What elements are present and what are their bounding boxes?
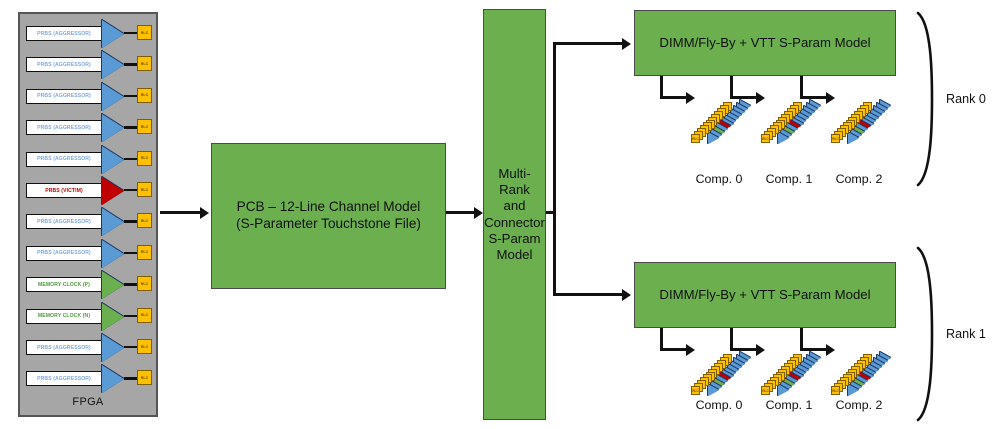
package-rlc-icon: RLC bbox=[831, 386, 840, 395]
stimulus-source-label: PRBS (AGGRESSOR) bbox=[26, 120, 102, 135]
pcb-line-2: (S-Parameter Touchstone File) bbox=[236, 216, 421, 233]
stimulus-source-label: MEMORY CLOCK (P) bbox=[26, 277, 102, 292]
driver-to-package-line bbox=[124, 377, 138, 379]
rank0-feed-arrowhead bbox=[622, 38, 631, 50]
package-rlc-icon: RLC bbox=[761, 134, 770, 143]
connector-line-3: Connector bbox=[484, 215, 545, 231]
rank1-dimm-block: DIMM/Fly-By + VTT S-Param Model bbox=[634, 262, 896, 328]
package-rlc-icon: RLC bbox=[831, 134, 840, 143]
dimm-tap-vline bbox=[800, 328, 803, 348]
fpga-channel-row: PRBS (AGGRESSOR)RLC bbox=[18, 367, 158, 393]
fpga-label: FPGA bbox=[18, 396, 158, 408]
driver-buffer-icon bbox=[102, 240, 124, 268]
driver-to-package-line bbox=[124, 346, 138, 348]
driver-buffer-icon bbox=[102, 114, 124, 142]
package-rlc-icon: RLC bbox=[137, 151, 152, 166]
package-rlc-icon: RLC bbox=[137, 182, 152, 197]
package-rlc-icon: RLC bbox=[137, 245, 152, 260]
pcb-channel-model-block: PCB – 12-Line Channel Model (S-Parameter… bbox=[211, 143, 446, 289]
fpga-channel-row: PRBS (AGGRESSOR)RLC bbox=[18, 53, 158, 79]
package-rlc-icon: RLC bbox=[137, 339, 152, 354]
dimm-tap-hline bbox=[660, 96, 686, 99]
driver-to-package-line bbox=[124, 126, 138, 128]
driver-to-package-line bbox=[124, 252, 138, 254]
receiver-buffer-icon bbox=[708, 132, 719, 144]
fpga-channel-row: PRBS (VICTIM)RLC bbox=[18, 179, 158, 205]
component-stack: RLC bbox=[758, 98, 820, 164]
dimm-tap-vline bbox=[730, 76, 733, 96]
pcb-to-connector-line bbox=[446, 211, 476, 214]
receiver-buffer-icon bbox=[778, 132, 789, 144]
driver-buffer-icon bbox=[102, 365, 124, 393]
stimulus-source-label: PRBS (AGGRESSOR) bbox=[26, 340, 102, 355]
package-rlc-icon: RLC bbox=[691, 386, 700, 395]
component-label: Comp. 2 bbox=[819, 398, 899, 412]
driver-buffer-icon bbox=[102, 177, 124, 205]
connector-line-1: Multi-Rank bbox=[484, 166, 545, 198]
driver-to-package-line bbox=[124, 63, 138, 65]
rank0-label: Rank 0 bbox=[946, 92, 986, 106]
connector-line-4: S-Param bbox=[484, 231, 545, 247]
stimulus-source-label: PRBS (AGGRESSOR) bbox=[26, 214, 102, 229]
package-rlc-icon: RLC bbox=[137, 370, 152, 385]
driver-buffer-icon bbox=[102, 20, 124, 48]
stimulus-source-label: PRBS (AGGRESSOR) bbox=[26, 89, 102, 104]
stimulus-source-label: PRBS (AGGRESSOR) bbox=[26, 26, 102, 41]
stimulus-source-label: MEMORY CLOCK (N) bbox=[26, 309, 102, 324]
stimulus-source-label: PRBS (AGGRESSOR) bbox=[26, 246, 102, 261]
fpga-channel-row: MEMORY CLOCK (P)RLC bbox=[18, 273, 158, 299]
driver-to-package-line bbox=[124, 32, 138, 34]
connector-line-2: and bbox=[484, 198, 545, 214]
stimulus-source-label: PRBS (VICTIM) bbox=[26, 183, 102, 198]
rank1-dimm-label: DIMM/Fly-By + VTT S-Param Model bbox=[659, 287, 870, 303]
component-label: Comp. 2 bbox=[819, 172, 899, 186]
fpga-channel-row: PRBS (AGGRESSOR)RLC bbox=[18, 336, 158, 362]
package-rlc-icon: RLC bbox=[137, 308, 152, 323]
driver-buffer-icon bbox=[102, 51, 124, 79]
fpga-channel-row: PRBS (AGGRESSOR)RLC bbox=[18, 210, 158, 236]
rank1-label: Rank 1 bbox=[946, 327, 986, 341]
component-label: Comp. 0 bbox=[679, 172, 759, 186]
receiver-buffer-icon bbox=[708, 384, 719, 396]
diagram-canvas: PRBS (AGGRESSOR)RLCPRBS (AGGRESSOR)RLCPR… bbox=[0, 0, 1001, 429]
dimm-tap-vline bbox=[660, 328, 663, 348]
pcb-to-connector-arrowhead bbox=[474, 207, 483, 219]
stimulus-source-label: PRBS (AGGRESSOR) bbox=[26, 152, 102, 167]
package-rlc-icon: RLC bbox=[137, 88, 152, 103]
stimulus-source-label: PRBS (AGGRESSOR) bbox=[26, 371, 102, 386]
receiver-buffer-icon bbox=[848, 384, 859, 396]
rank1-feed-line bbox=[553, 293, 623, 296]
package-rlc-icon: RLC bbox=[137, 119, 152, 134]
fpga-channel-row: PRBS (AGGRESSOR)RLC bbox=[18, 116, 158, 142]
fpga-channel-row: PRBS (AGGRESSOR)RLC bbox=[18, 22, 158, 48]
fpga-channel-row: PRBS (AGGRESSOR)RLC bbox=[18, 148, 158, 174]
dimm-tap-hline bbox=[660, 348, 686, 351]
rank1-brace bbox=[915, 245, 941, 423]
fpga-channel-row: PRBS (AGGRESSOR)RLC bbox=[18, 85, 158, 111]
rank0-feed-line bbox=[553, 42, 623, 45]
driver-buffer-icon bbox=[102, 303, 124, 331]
component-stack: RLC bbox=[688, 98, 750, 164]
connector-line-5: Model bbox=[484, 247, 545, 263]
driver-to-package-line bbox=[124, 95, 138, 97]
pcb-line-1: PCB – 12-Line Channel Model bbox=[236, 199, 421, 216]
connector-to-rank0-vline bbox=[553, 43, 556, 213]
rank1-feed-arrowhead bbox=[622, 289, 631, 301]
package-rlc-icon: RLC bbox=[761, 386, 770, 395]
package-rlc-icon: RLC bbox=[137, 276, 152, 291]
driver-buffer-icon bbox=[102, 208, 124, 236]
component-stack: RLC bbox=[828, 98, 890, 164]
package-rlc-icon: RLC bbox=[137, 213, 152, 228]
driver-buffer-icon bbox=[102, 334, 124, 362]
package-rlc-icon: RLC bbox=[691, 134, 700, 143]
driver-to-package-line bbox=[124, 189, 138, 191]
component-label: Comp. 1 bbox=[749, 172, 829, 186]
receiver-buffer-icon bbox=[778, 384, 789, 396]
fpga-channel-row: PRBS (AGGRESSOR)RLC bbox=[18, 242, 158, 268]
dimm-tap-vline bbox=[660, 76, 663, 96]
driver-to-package-line bbox=[124, 283, 138, 285]
driver-buffer-icon bbox=[102, 271, 124, 299]
component-label: Comp. 1 bbox=[749, 398, 829, 412]
stimulus-source-label: PRBS (AGGRESSOR) bbox=[26, 57, 102, 72]
driver-to-package-line bbox=[124, 158, 138, 160]
driver-to-package-line bbox=[124, 220, 138, 222]
fpga-to-pcb-arrowhead bbox=[200, 207, 209, 219]
dimm-tap-vline bbox=[800, 76, 803, 96]
rank0-dimm-label: DIMM/Fly-By + VTT S-Param Model bbox=[659, 35, 870, 51]
driver-to-package-line bbox=[124, 315, 138, 317]
fpga-channel-row: MEMORY CLOCK (N)RLC bbox=[18, 305, 158, 331]
connector-to-rank1-vline bbox=[553, 211, 556, 295]
package-rlc-icon: RLC bbox=[137, 56, 152, 71]
fpga-to-pcb-line bbox=[160, 211, 202, 214]
component-label: Comp. 0 bbox=[679, 398, 759, 412]
rank0-dimm-block: DIMM/Fly-By + VTT S-Param Model bbox=[634, 10, 896, 76]
driver-buffer-icon bbox=[102, 146, 124, 174]
receiver-buffer-icon bbox=[848, 132, 859, 144]
package-rlc-icon: RLC bbox=[137, 25, 152, 40]
rank0-brace bbox=[915, 10, 941, 188]
multirank-connector-block: Multi-Rank and Connector S-Param Model bbox=[483, 9, 546, 420]
driver-buffer-icon bbox=[102, 83, 124, 111]
dimm-tap-vline bbox=[730, 328, 733, 348]
